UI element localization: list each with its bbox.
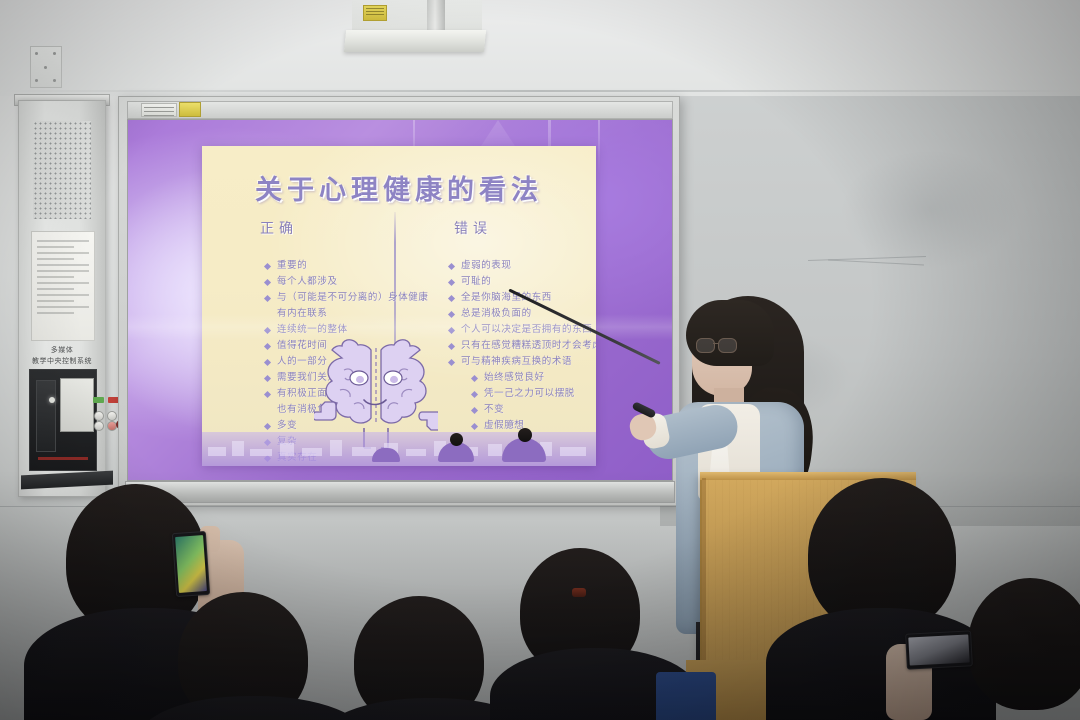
wrong-item: 可耻的 bbox=[448, 274, 596, 290]
column-header-correct: 正确 bbox=[260, 218, 298, 238]
wrong-item: 总是消极负面的 bbox=[448, 306, 596, 322]
whiteboard-brand-tag bbox=[141, 103, 177, 117]
phone-screen bbox=[175, 535, 207, 593]
decoration-figure-head bbox=[450, 433, 463, 446]
classroom-chair bbox=[656, 672, 716, 720]
phone-camera[interactable] bbox=[172, 531, 210, 597]
student-right bbox=[500, 548, 690, 720]
power-led-icon bbox=[49, 397, 55, 403]
wrong-item: 个人可以决定是否拥有的东西 bbox=[448, 322, 596, 338]
panel-knob-1[interactable] bbox=[94, 411, 104, 421]
student-center-left bbox=[158, 592, 368, 720]
classroom-scene: 多媒体 教学中央控制系统 bbox=[0, 0, 1080, 720]
wall-upper-band bbox=[0, 0, 1080, 96]
speaker-grille bbox=[33, 121, 91, 219]
cabinet-caption-line2: 教学中央控制系统 bbox=[23, 356, 101, 367]
projected-slide: 关于心理健康的看法 正确 错误 重要的每个人都涉及与（可能是不可分离的）身体健康… bbox=[128, 120, 672, 480]
panel-brand-strip bbox=[38, 457, 88, 460]
slide-content-card: 关于心理健康的看法 正确 错误 重要的每个人都涉及与（可能是不可分离的）身体健康… bbox=[202, 146, 596, 466]
wrong-item: 只有在感觉糟糕透顶时才会考虑到 bbox=[448, 338, 596, 354]
cabinet-instruction-sheet bbox=[31, 231, 95, 341]
panel-knob-3[interactable] bbox=[94, 421, 104, 431]
phone-camera[interactable] bbox=[905, 630, 973, 669]
projector-shelf bbox=[344, 30, 486, 52]
hair-clip bbox=[572, 588, 586, 597]
wall-scuff bbox=[840, 150, 1020, 270]
cabinet-caption: 多媒体 教学中央控制系统 bbox=[23, 345, 101, 367]
student-shoulders bbox=[138, 696, 368, 720]
decoration-figure-head bbox=[518, 428, 532, 442]
column-headers: 正确 错误 bbox=[202, 218, 596, 240]
central-control-panel[interactable] bbox=[29, 369, 97, 471]
student-head-front bbox=[968, 578, 1080, 710]
correct-item: 有内在联系 bbox=[264, 306, 432, 322]
correct-item: 每个人都涉及 bbox=[264, 274, 432, 290]
wrong-item: 可与精神疾病互换的术语 bbox=[448, 354, 596, 370]
wrong-item: 不变 bbox=[448, 402, 596, 418]
wall-mount-plate bbox=[30, 46, 62, 88]
correct-item: 重要的 bbox=[264, 258, 432, 274]
interactive-whiteboard[interactable]: 关于心理健康的看法 正确 错误 重要的每个人都涉及与（可能是不可分离的）身体健康… bbox=[118, 96, 680, 506]
decoration-shape bbox=[372, 448, 400, 462]
glasses-icon bbox=[696, 338, 740, 352]
wrong-item: 始终感觉良好 bbox=[448, 370, 596, 386]
projector-warning-sticker bbox=[363, 5, 387, 21]
wrong-item: 凭一己之力可以摆脱 bbox=[448, 386, 596, 402]
student-far-right bbox=[790, 478, 1080, 720]
panel-slot bbox=[36, 380, 56, 452]
panel-knob-2[interactable] bbox=[107, 411, 117, 421]
panel-display bbox=[60, 378, 94, 432]
wall-edge-line bbox=[0, 90, 1080, 92]
panel-power-on-button[interactable] bbox=[93, 397, 104, 403]
multimedia-control-cabinet[interactable]: 多媒体 教学中央控制系统 bbox=[18, 100, 106, 497]
slide-bottom-decoration bbox=[202, 432, 596, 466]
whiteboard-sticker bbox=[179, 102, 201, 117]
column-header-wrong: 错误 bbox=[454, 218, 492, 238]
phone-screen bbox=[908, 634, 969, 665]
slide-title: 关于心理健康的看法 bbox=[202, 168, 596, 207]
wrong-item: 虚弱的表现 bbox=[448, 258, 596, 274]
cabinet-caption-line1: 多媒体 bbox=[23, 345, 101, 356]
whiteboard-top-bar bbox=[127, 101, 673, 119]
correct-item: 与（可能是不可分离的）身体健康 bbox=[264, 290, 432, 306]
presenter-fringe bbox=[686, 300, 774, 366]
student-center-right bbox=[344, 586, 514, 720]
